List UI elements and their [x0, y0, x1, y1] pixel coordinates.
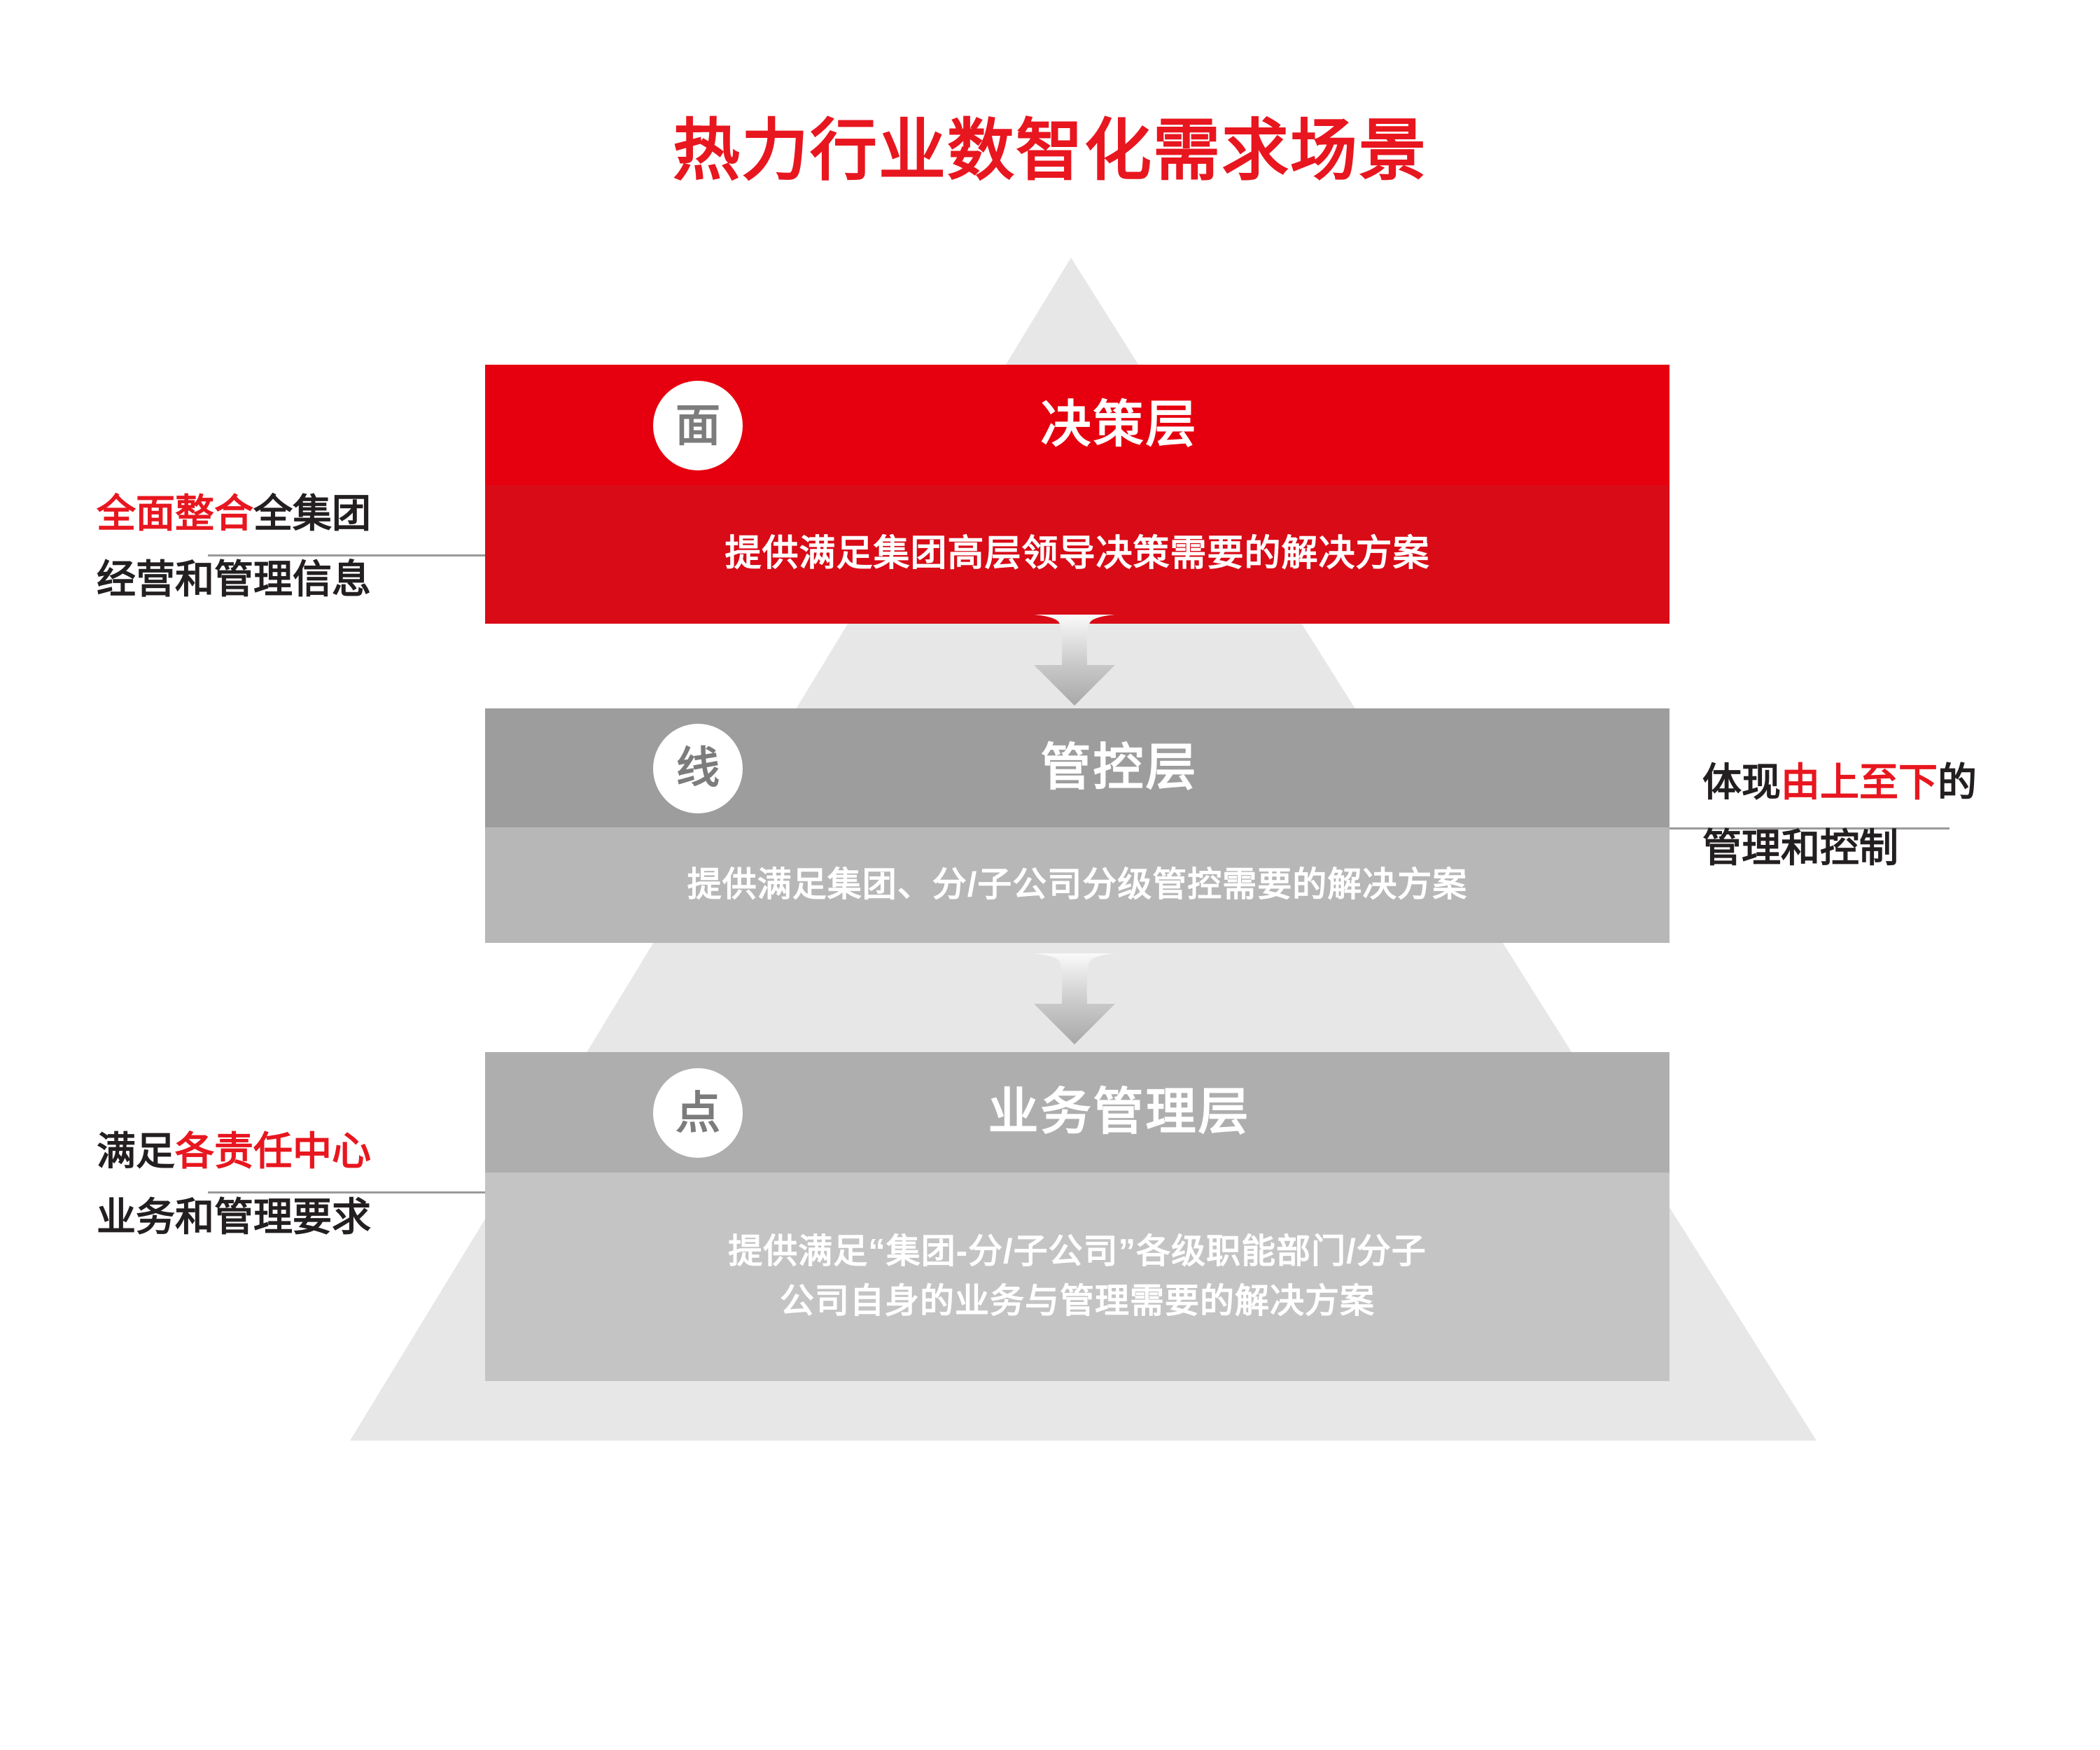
annotation-left-bottom: 满足各责任中心 业务和管理要求 [97, 1132, 371, 1237]
annotation-left-top: 全面整合全集团 经营和管理信息 [97, 494, 371, 599]
annotation-right-mid-line2: 管理和控制 [1702, 829, 1977, 868]
annotation-left-top-line2: 经营和管理信息 [97, 560, 371, 599]
badge-icon-dian: 点 [653, 1068, 743, 1158]
layer-description-business: 提供满足“集团-分/子公司”各级职能部门/分子 公司自身的业务与管理需要的解决方… [728, 1227, 1427, 1326]
layer-body-decision: 提供满足集团高层领导决策需要的解决方案 [485, 485, 1669, 624]
badge-icon-mian: 面 [653, 381, 743, 470]
badge-icon-xian: 线 [653, 724, 743, 813]
layer-band-decision[interactable]: 面 决策层 提供满足集团高层领导决策需要的解决方案 [485, 365, 1669, 624]
layer-description-business-line1: 提供满足“集团-分/子公司”各级职能部门/分子 [728, 1227, 1427, 1277]
layer-description-business-line2: 公司自身的业务与管理需要的解决方案 [728, 1277, 1427, 1326]
annotation-left-bottom-line2: 业务和管理要求 [97, 1198, 371, 1237]
annotation-left-top-plain: 全集团 [253, 491, 371, 535]
annotation-left-top-highlight: 全面整合 [97, 491, 253, 535]
slide-canvas: 热力行业数智化需求场景 面 决策层 提供满足集团高层领导决策需要的解决方案 [0, 0, 2100, 1750]
annotation-left-bottom-highlight: 各责任中心 [175, 1129, 371, 1173]
layer-description-decision: 提供满足集团高层领导决策需要的解决方案 [724, 528, 1429, 580]
annotation-right-mid-pre: 体现 [1702, 760, 1781, 804]
flow-arrow-down-icon [1018, 953, 1130, 1044]
annotation-right-mid: 体现由上至下的 管理和控制 [1702, 763, 1977, 868]
annotation-right-mid-post: 的 [1938, 760, 1977, 804]
layer-body-control: 提供满足集团、分/子公司分级管控需要的解决方案 [485, 827, 1669, 943]
layer-header-business: 点 业务管理层 [485, 1052, 1669, 1172]
layer-header-decision: 面 决策层 [485, 365, 1669, 485]
layer-band-business[interactable]: 点 业务管理层 提供满足“集团-分/子公司”各级职能部门/分子 公司自身的业务与… [485, 1052, 1669, 1381]
annotation-left-bottom-pre: 满足 [97, 1129, 175, 1173]
flow-arrow-down-icon [1018, 615, 1130, 706]
layer-header-control: 线 管控层 [485, 708, 1669, 827]
layer-band-control[interactable]: 线 管控层 提供满足集团、分/子公司分级管控需要的解决方案 [485, 708, 1669, 943]
page-title: 热力行业数智化需求场景 [0, 118, 2100, 185]
layer-description-control: 提供满足集团、分/子公司分级管控需要的解决方案 [687, 860, 1468, 910]
layer-body-business: 提供满足“集团-分/子公司”各级职能部门/分子 公司自身的业务与管理需要的解决方… [485, 1172, 1669, 1381]
annotation-right-mid-highlight: 由上至下 [1781, 760, 1938, 804]
